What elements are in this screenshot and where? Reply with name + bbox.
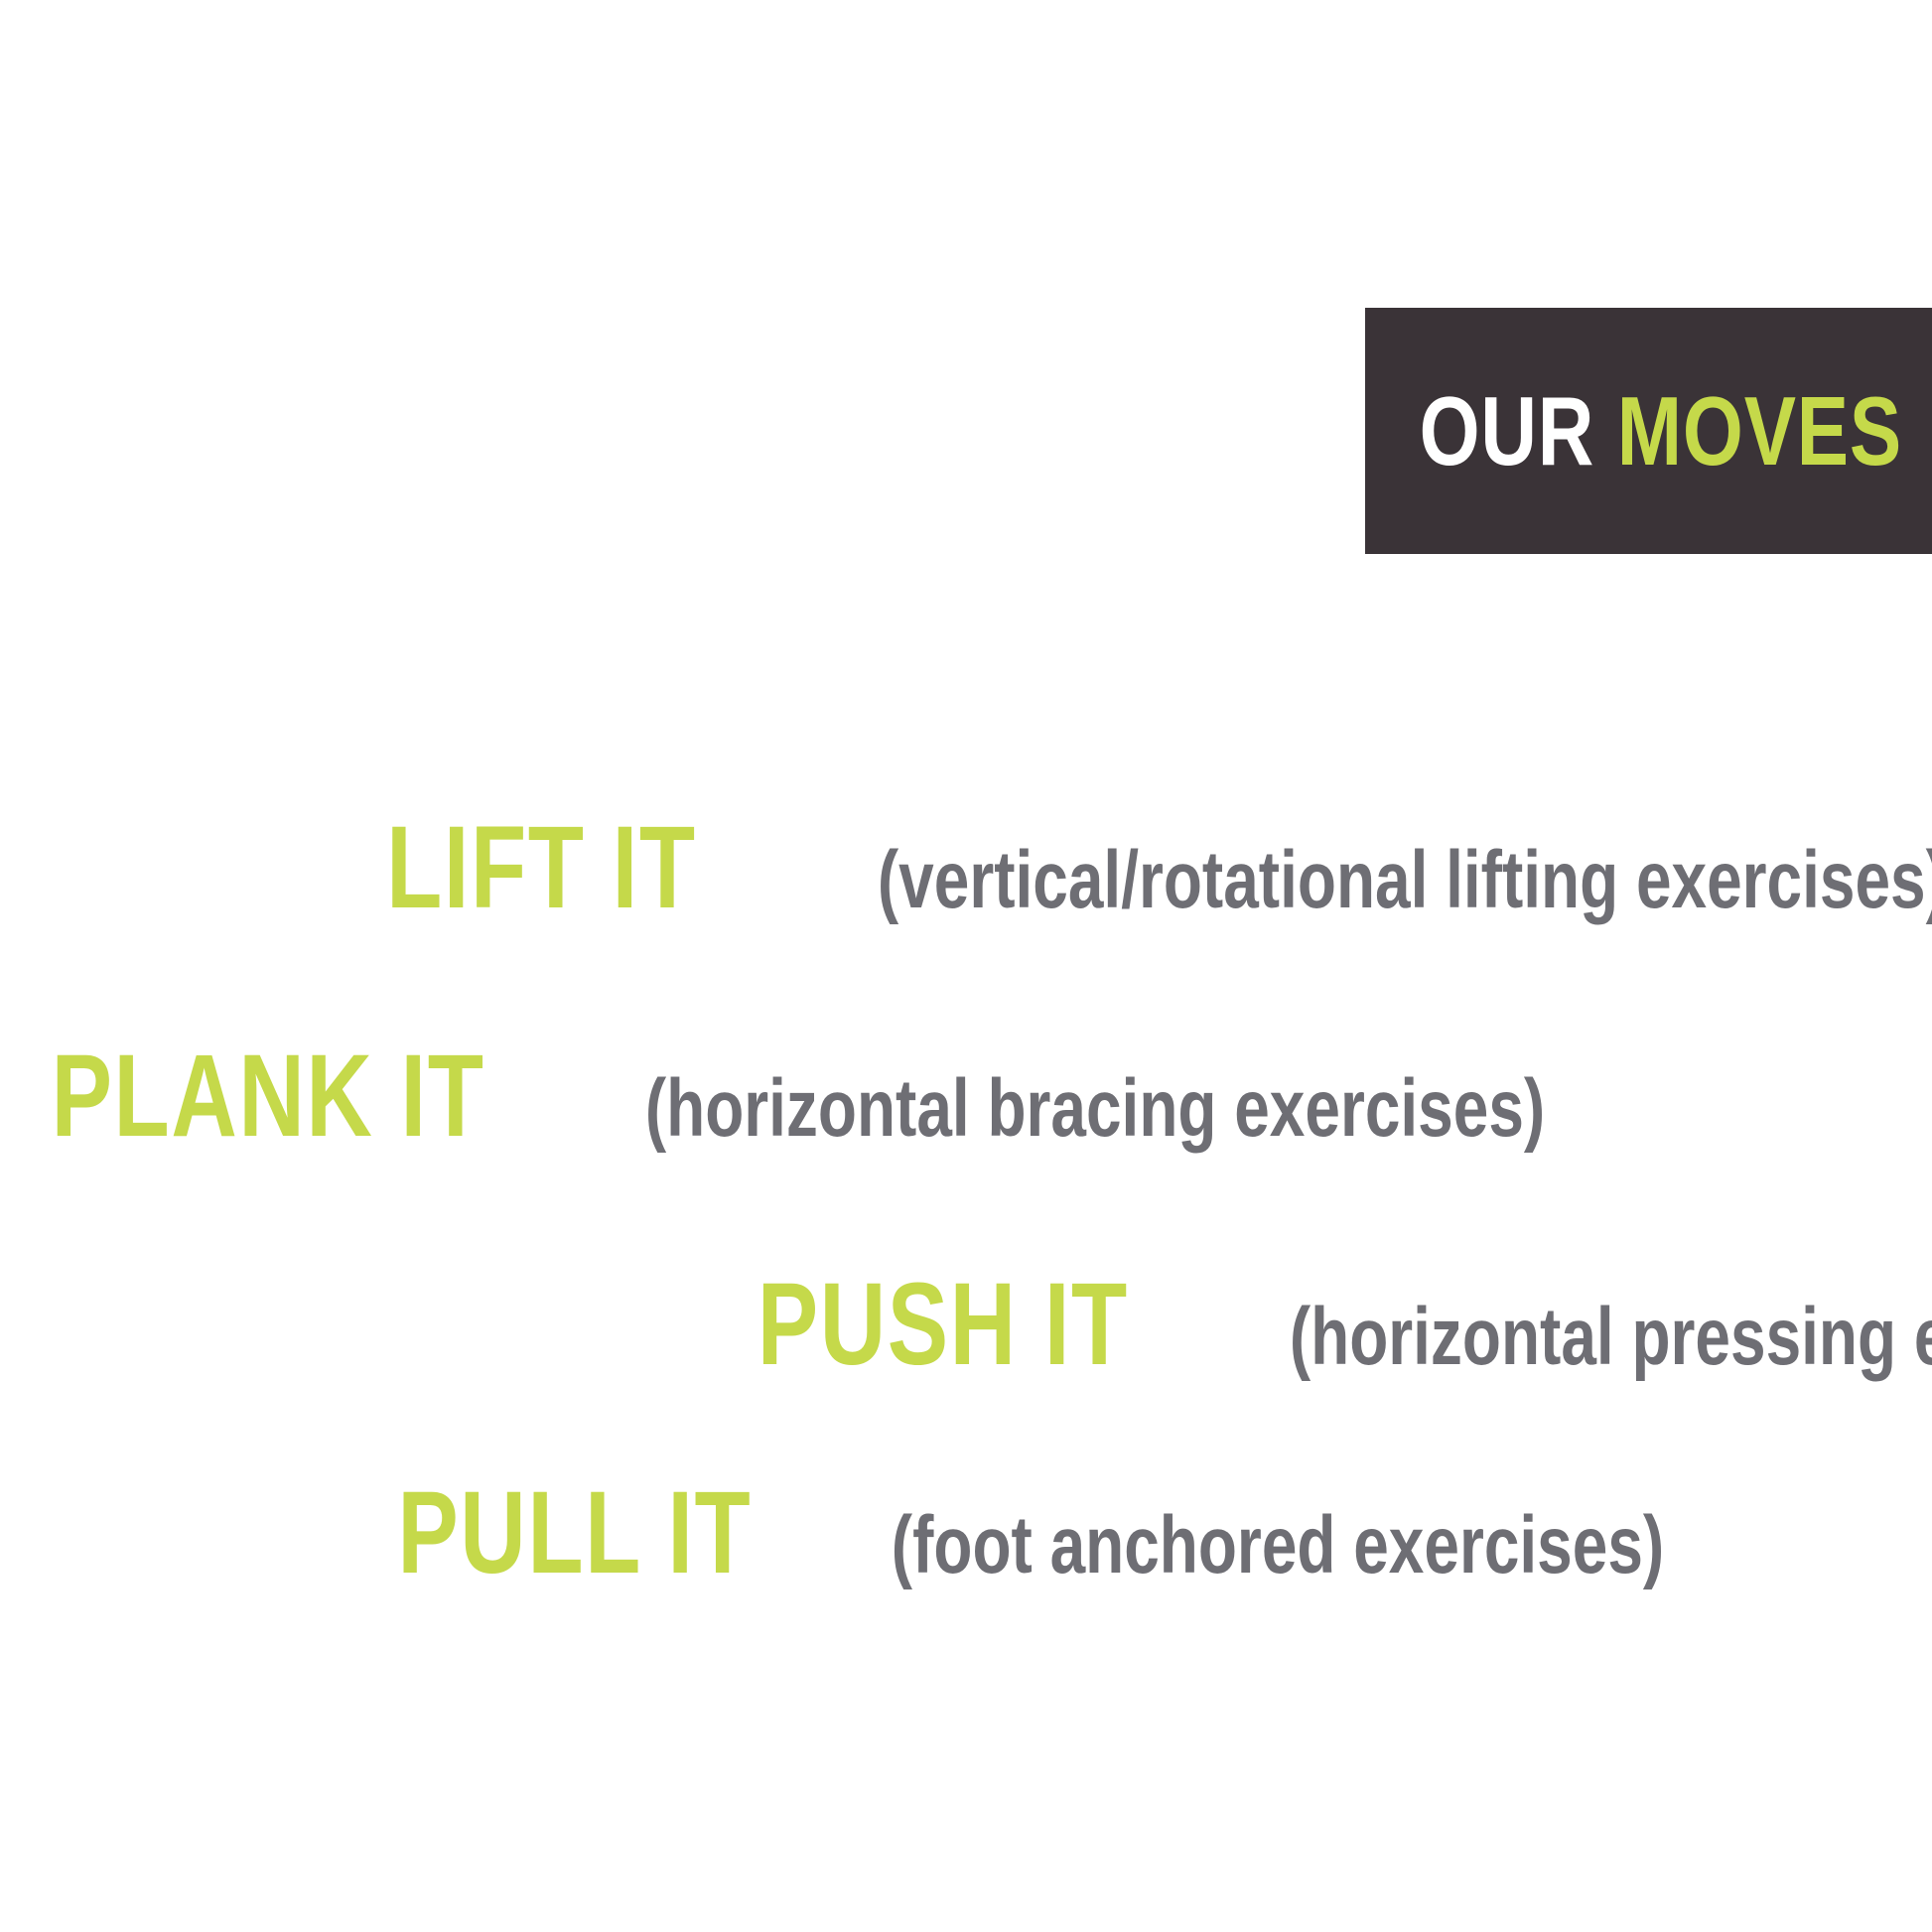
move-row-plank-it: PLANK IT (horizontal bracing exercises): [0, 1037, 1672, 1155]
banner-word-our: OUR: [1420, 376, 1595, 485]
banner-title: OUR MOVES: [1420, 382, 1902, 480]
move-name-lift-it: LIFT IT: [386, 809, 697, 926]
move-description-push-it: (horizontal pressing exercises): [1289, 1297, 1932, 1378]
move-row-lift-it: LIFT IT (vertical/rotational lifting exe…: [343, 809, 1932, 926]
move-name-plank-it: PLANK IT: [52, 1037, 485, 1155]
move-description-lift-it: (vertical/rotational lifting exercises): [878, 840, 1932, 921]
move-row-push-it: PUSH IT (horizontal pressing exercises): [705, 1266, 1932, 1383]
banner-word-moves: MOVES: [1617, 376, 1902, 485]
our-moves-poster: OUR MOVES LIFT IT (vertical/rotational l…: [0, 0, 1932, 1932]
move-name-push-it: PUSH IT: [758, 1266, 1129, 1383]
move-description-pull-it: (foot anchored exercises): [891, 1505, 1663, 1587]
move-row-pull-it: PULL IT (foot anchored exercises): [347, 1474, 1773, 1591]
move-description-plank-it: (horizontal bracing exercises): [645, 1068, 1545, 1150]
header-banner: OUR MOVES: [1365, 308, 1932, 554]
move-name-pull-it: PULL IT: [397, 1474, 752, 1591]
